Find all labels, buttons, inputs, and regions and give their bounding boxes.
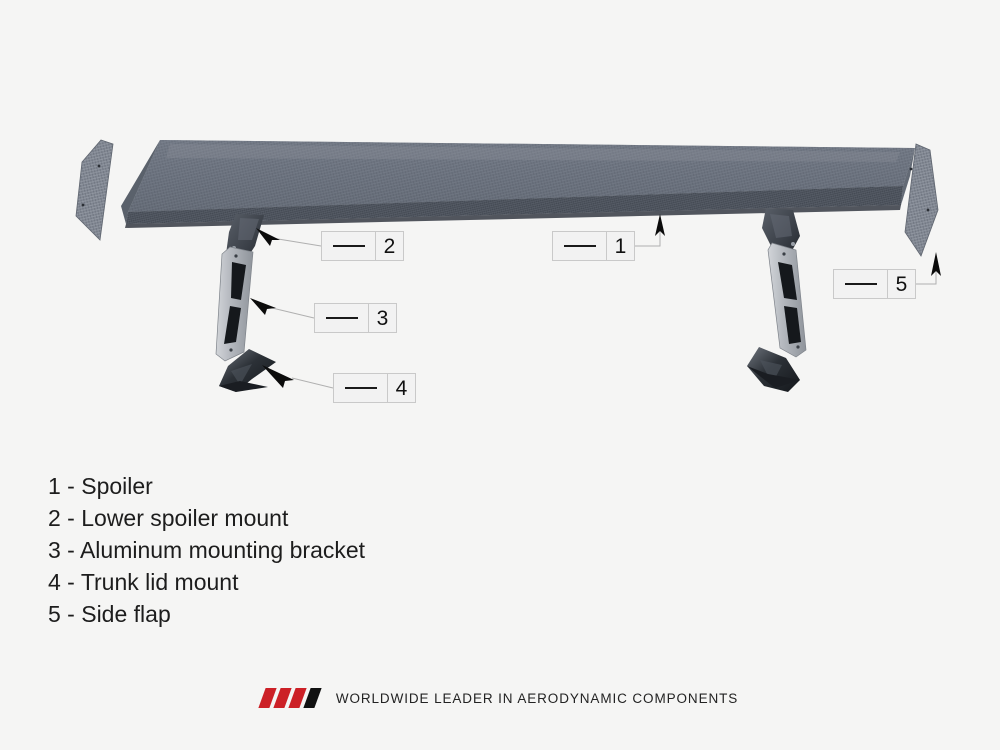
callout-dash-3 bbox=[315, 304, 369, 332]
aluminum-bracket-left bbox=[216, 247, 253, 361]
legend-item-4: 4 - Trunk lid mount bbox=[48, 566, 568, 598]
callout-dash-1 bbox=[553, 232, 607, 260]
callout-dash-4 bbox=[334, 374, 388, 402]
arrowhead-3 bbox=[250, 298, 276, 315]
spoiler-wing bbox=[121, 140, 915, 228]
callout-box-1[interactable]: 1 bbox=[552, 231, 635, 261]
callout-box-3[interactable]: 3 bbox=[314, 303, 397, 333]
brand-stripes-icon bbox=[262, 688, 322, 708]
arrowhead-4 bbox=[262, 365, 294, 388]
side-flap-left bbox=[76, 140, 113, 240]
leader-line-1 bbox=[634, 220, 660, 246]
callout-box-2[interactable]: 2 bbox=[321, 231, 404, 261]
legend-item-1: 1 - Spoiler bbox=[48, 470, 568, 502]
callout-box-4[interactable]: 4 bbox=[333, 373, 416, 403]
leader-line-5 bbox=[915, 270, 936, 284]
legend-item-3: 3 - Aluminum mounting bracket bbox=[48, 534, 568, 566]
product-illustration bbox=[0, 0, 1000, 750]
leader-line-4 bbox=[292, 378, 333, 388]
arrowhead-5 bbox=[931, 252, 941, 276]
lower-spoiler-mount-right bbox=[762, 208, 800, 258]
legend-item-5: 5 - Side flap bbox=[48, 598, 568, 630]
trunk-lid-mount-right bbox=[747, 347, 800, 392]
callout-number-1: 1 bbox=[607, 232, 634, 260]
arrowhead-1 bbox=[655, 214, 665, 236]
callout-number-3: 3 bbox=[369, 304, 396, 332]
aluminum-bracket-right bbox=[768, 243, 806, 357]
footer-tagline: WORLDWIDE LEADER IN AERODYNAMIC COMPONEN… bbox=[336, 691, 738, 706]
callout-box-5[interactable]: 5 bbox=[833, 269, 916, 299]
callout-dash-5 bbox=[834, 270, 888, 298]
diagram-canvas: 1 2 3 4 5 1 - Spoiler 2 - Lower spoiler … bbox=[0, 0, 1000, 750]
arrowhead-2 bbox=[256, 228, 280, 246]
side-flap-right bbox=[905, 144, 938, 256]
legend-item-2: 2 - Lower spoiler mount bbox=[48, 502, 568, 534]
lower-spoiler-mount-left bbox=[226, 214, 264, 266]
callout-dash-2 bbox=[322, 232, 376, 260]
parts-legend: 1 - Spoiler 2 - Lower spoiler mount 3 - … bbox=[48, 470, 568, 630]
leader-line-2 bbox=[272, 238, 321, 246]
callout-number-4: 4 bbox=[388, 374, 415, 402]
trunk-lid-mount-left bbox=[219, 349, 276, 392]
leader-line-3 bbox=[268, 307, 314, 318]
callout-number-5: 5 bbox=[888, 270, 915, 298]
callout-number-2: 2 bbox=[376, 232, 403, 260]
footer-branding: WORLDWIDE LEADER IN AERODYNAMIC COMPONEN… bbox=[0, 688, 1000, 708]
